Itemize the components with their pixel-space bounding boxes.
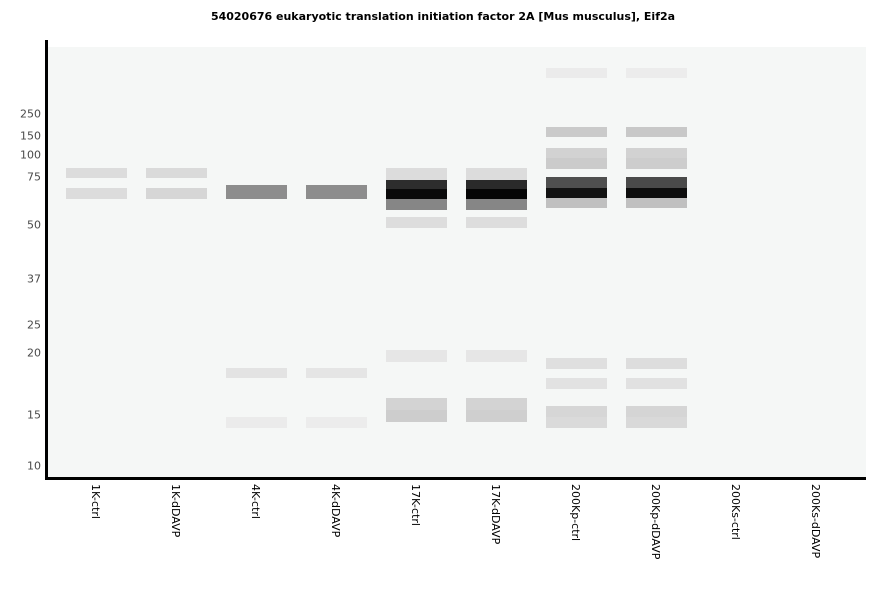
gel-band (546, 417, 607, 428)
gel-band (386, 398, 447, 410)
page-title: 54020676 eukaryotic translation initiati… (0, 10, 886, 23)
y-tick-label: 250 (1, 108, 45, 121)
gel-band (226, 185, 287, 199)
gel-band (626, 358, 687, 369)
gel-band (626, 158, 687, 169)
gel-lane[interactable] (146, 47, 207, 477)
gel-band (66, 168, 127, 178)
gel-band (306, 417, 367, 428)
gel-band (466, 398, 527, 410)
gel-band (466, 199, 527, 210)
gel-band (626, 177, 687, 188)
gel-band (386, 189, 447, 199)
gel-band (546, 177, 607, 188)
gel-lane[interactable] (66, 47, 127, 477)
gel-band (466, 410, 527, 422)
gel-band (626, 127, 687, 137)
gel-lane[interactable] (626, 47, 687, 477)
y-tick-label: 75 (1, 171, 45, 184)
y-tick-label: 15 (1, 409, 45, 422)
gel-band (386, 199, 447, 210)
gel-band (466, 217, 527, 228)
gel-band (146, 168, 207, 178)
gel-band (546, 358, 607, 369)
gel-band (466, 180, 527, 189)
gel-band (386, 180, 447, 189)
gel-band (626, 417, 687, 428)
y-tick-label: 25 (1, 319, 45, 332)
gel-lane[interactable] (466, 47, 527, 477)
lane-label-1k-ddavp: 1K-dDAVP (169, 484, 182, 537)
y-tick-label: 100 (1, 149, 45, 162)
lane-label-200ks-ddavp: 200Ks-dDAVP (809, 484, 822, 558)
gel-band (626, 198, 687, 208)
gel-lane[interactable] (546, 47, 607, 477)
lane-label-4k-ctrl: 4K-ctrl (249, 484, 262, 519)
gel-band (226, 368, 287, 378)
gel-band (226, 417, 287, 428)
gel-band (546, 378, 607, 389)
gel-band (546, 68, 607, 78)
gel-band (386, 350, 447, 362)
lane-label-1k-ctrl: 1K-ctrl (89, 484, 102, 519)
gel-band (146, 188, 207, 199)
lane-label-200kp-ctrl: 200Kp-ctrl (569, 484, 582, 541)
gel-band (386, 168, 447, 180)
gel-band (466, 168, 527, 180)
y-tick-label: 150 (1, 130, 45, 143)
y-tick-label: 20 (1, 347, 45, 360)
gel-band (626, 406, 687, 417)
gel-band (626, 68, 687, 78)
lane-label-17k-ddavp: 17K-dDAVP (489, 484, 502, 544)
gel-band (386, 410, 447, 422)
y-tick-label: 10 (1, 460, 45, 473)
gel-band (626, 378, 687, 389)
gel-band (626, 188, 687, 198)
gel-band (546, 158, 607, 169)
y-tick-label: 50 (1, 219, 45, 232)
y-tick-label: 37 (1, 273, 45, 286)
gel-band (626, 148, 687, 158)
lane-label-200kp-ddavp: 200Kp-dDAVP (649, 484, 662, 559)
y-axis-line (45, 40, 48, 480)
gel-band (466, 350, 527, 362)
gel-band (546, 148, 607, 158)
gel-blot-figure: 54020676 eukaryotic translation initiati… (0, 0, 886, 595)
gel-band (546, 127, 607, 137)
x-axis-line (45, 477, 866, 480)
gel-band (66, 188, 127, 199)
gel-lane[interactable] (306, 47, 367, 477)
y-axis-tick-labels: 25015010075503725201510 (0, 0, 45, 595)
lane-label-200ks-ctrl: 200Ks-ctrl (729, 484, 742, 540)
plot-area (48, 47, 866, 477)
lane-label-17k-ctrl: 17K-ctrl (409, 484, 422, 526)
gel-band (386, 217, 447, 228)
gel-lane[interactable] (706, 47, 767, 477)
gel-band (466, 189, 527, 199)
gel-lane[interactable] (226, 47, 287, 477)
gel-band (546, 198, 607, 208)
gel-lane[interactable] (786, 47, 847, 477)
gel-band (546, 406, 607, 417)
gel-band (306, 368, 367, 378)
gel-band (546, 188, 607, 198)
gel-band (306, 185, 367, 199)
gel-lane[interactable] (386, 47, 447, 477)
lane-label-4k-ddavp: 4K-dDAVP (329, 484, 342, 537)
